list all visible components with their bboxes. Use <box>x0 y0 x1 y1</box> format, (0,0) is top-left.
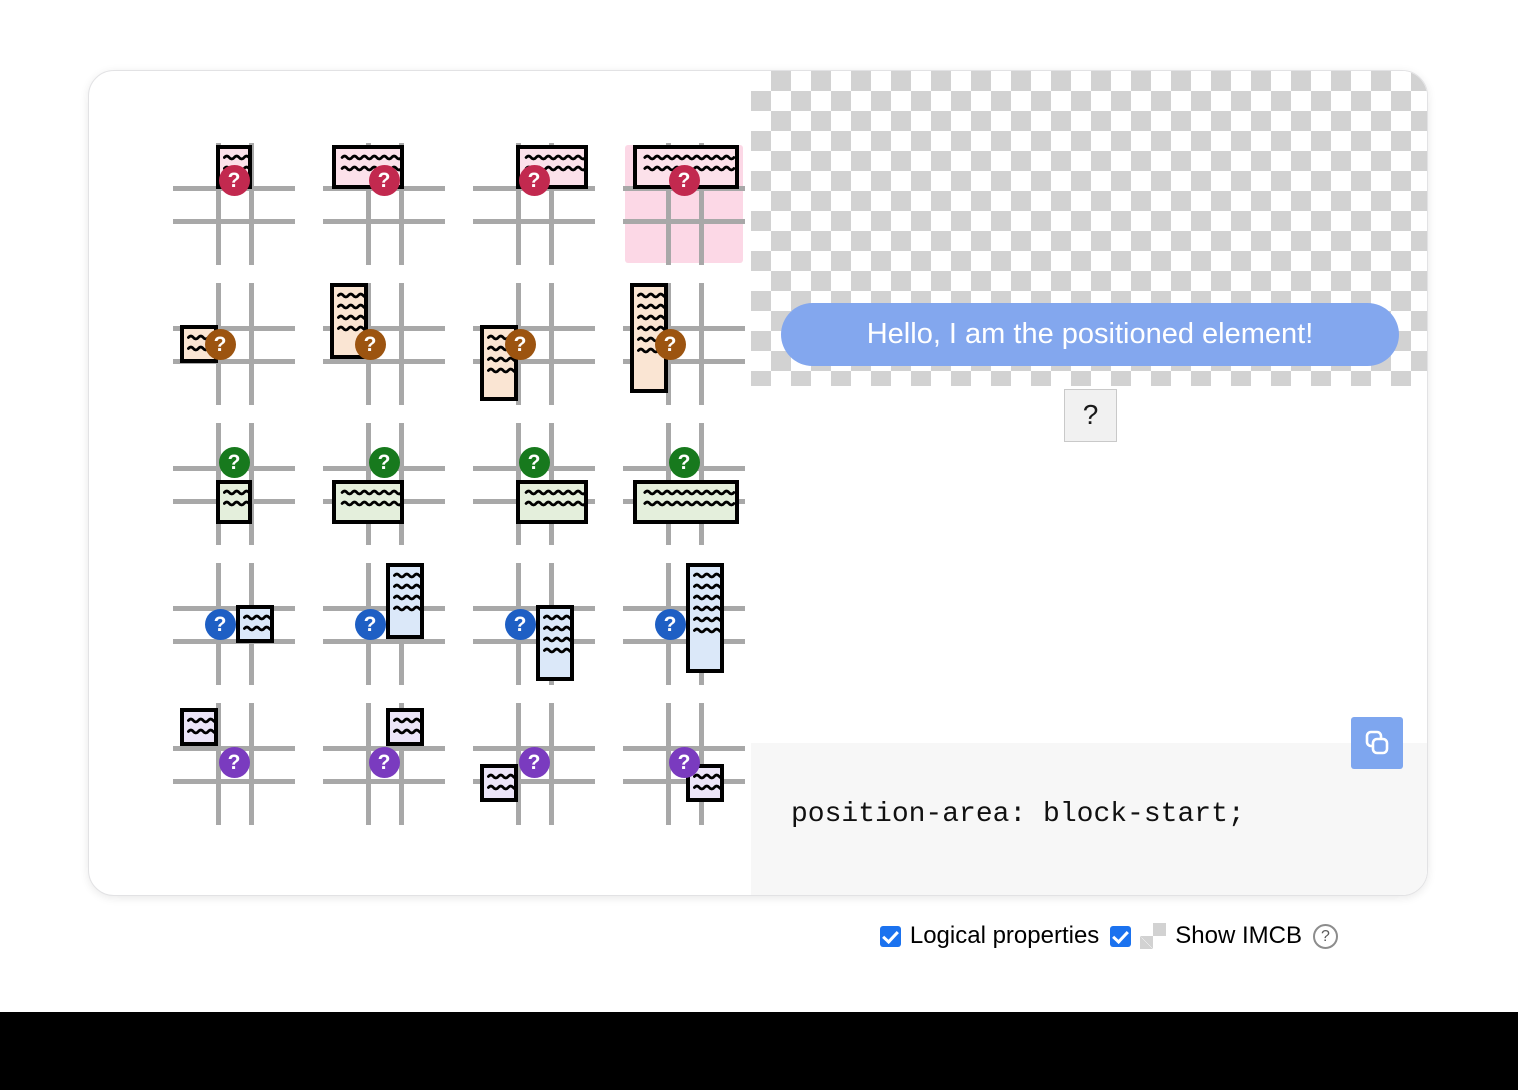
variant-cell[interactable]: ? <box>467 553 599 693</box>
variant-cell[interactable]: ? <box>167 273 299 413</box>
logical-properties-control[interactable]: Logical properties <box>880 922 1099 950</box>
positioned-box <box>633 480 739 524</box>
anchor-marker: ? <box>369 165 400 196</box>
positioned-box <box>216 480 252 524</box>
gridline <box>173 639 295 644</box>
variant-cell[interactable]: ? <box>617 273 749 413</box>
code-block: position-area: block-start; <box>751 743 1427 895</box>
gridline <box>473 606 595 611</box>
variant-cell[interactable]: ? <box>317 553 449 693</box>
position-area-card: ? ? ? ? ? <box>88 70 1428 896</box>
variant-cell[interactable]: ? <box>467 693 599 833</box>
footer-controls: Logical properties Show IMCB ? <box>0 922 1428 950</box>
variant-grid: ? ? ? ? ? <box>167 133 749 833</box>
gridline <box>473 639 595 644</box>
variant-cell[interactable]: ? <box>617 413 749 553</box>
anchor-marker: ? <box>505 329 536 360</box>
positioned-box <box>480 764 518 802</box>
variant-cell[interactable]: ? <box>167 133 299 273</box>
variant-cell[interactable]: ? <box>167 413 299 553</box>
gridline <box>323 779 445 784</box>
gridline <box>623 639 745 644</box>
gridline <box>323 639 445 644</box>
positioned-box <box>332 480 404 524</box>
logical-properties-checkbox[interactable] <box>880 926 901 947</box>
positioned-box <box>236 605 274 643</box>
anchor-marker: ? <box>655 329 686 360</box>
gridline <box>473 219 595 224</box>
gridline <box>249 703 254 825</box>
logical-properties-label: Logical properties <box>910 922 1099 950</box>
variant-cell[interactable]: ? <box>167 693 299 833</box>
anchor-marker: ? <box>355 609 386 640</box>
gridline <box>623 779 745 784</box>
code-snippet: position-area: block-start; <box>791 799 1245 830</box>
positioned-box <box>180 708 218 746</box>
help-icon[interactable]: ? <box>1313 924 1338 949</box>
gridline <box>323 359 445 364</box>
gridline <box>173 219 295 224</box>
variant-cell[interactable]: ? <box>617 133 749 273</box>
positioned-element-bubble: Hello, I am the positioned element! <box>781 303 1399 366</box>
anchor-marker: ? <box>369 747 400 778</box>
positioned-box <box>516 480 588 524</box>
anchor-marker: ? <box>505 609 536 640</box>
anchor-marker: ? <box>205 329 236 360</box>
variant-cell[interactable]: ? <box>467 413 599 553</box>
preview-area-imcb: Hello, I am the positioned element! <box>751 71 1427 386</box>
page-root: ? ? ? ? ? <box>0 0 1518 1090</box>
checkerboard-swatch-icon <box>1140 923 1166 949</box>
anchor-marker: ? <box>519 165 550 196</box>
gridline <box>399 283 404 405</box>
gridline <box>173 606 295 611</box>
gridline <box>699 283 704 405</box>
anchor-marker: ? <box>205 609 236 640</box>
anchor-marker: ? <box>669 747 700 778</box>
variant-cell[interactable]: ? <box>617 553 749 693</box>
anchor-marker: ? <box>219 447 250 478</box>
copy-code-button[interactable] <box>1351 717 1403 769</box>
anchor-button[interactable]: ? <box>1064 389 1117 442</box>
copy-icon <box>1362 728 1392 758</box>
gridline <box>249 283 254 405</box>
show-imcb-checkbox[interactable] <box>1110 926 1131 947</box>
anchor-marker: ? <box>219 747 250 778</box>
gridline <box>623 219 745 224</box>
anchor-marker: ? <box>519 447 550 478</box>
positioned-box <box>686 563 724 673</box>
variant-cell[interactable]: ? <box>317 133 449 273</box>
show-imcb-label: Show IMCB <box>1175 922 1302 950</box>
anchor-marker: ? <box>669 447 700 478</box>
anchor-marker: ? <box>655 609 686 640</box>
variant-cell[interactable]: ? <box>467 133 599 273</box>
anchor-marker: ? <box>669 165 700 196</box>
anchor-marker: ? <box>219 165 250 196</box>
bottom-band <box>0 1012 1518 1090</box>
variant-cell[interactable]: ? <box>317 273 449 413</box>
anchor-marker: ? <box>369 447 400 478</box>
gridline <box>173 779 295 784</box>
variant-cell[interactable]: ? <box>167 553 299 693</box>
gridline <box>323 606 445 611</box>
variant-cell[interactable]: ? <box>617 693 749 833</box>
positioned-box <box>386 563 424 639</box>
variant-cell[interactable]: ? <box>317 413 449 553</box>
gridline <box>549 283 554 405</box>
demo-panel: Hello, I am the positioned element! ? po… <box>751 71 1427 895</box>
variant-picker-panel: ? ? ? ? ? <box>89 71 751 895</box>
positioned-box <box>386 708 424 746</box>
show-imcb-control[interactable]: Show IMCB <box>1110 922 1302 950</box>
variant-cell[interactable]: ? <box>467 273 599 413</box>
variant-cell[interactable]: ? <box>317 693 449 833</box>
anchor-marker: ? <box>519 747 550 778</box>
gridline <box>549 703 554 825</box>
gridline <box>323 219 445 224</box>
gridline <box>623 606 745 611</box>
anchor-marker: ? <box>355 329 386 360</box>
positioned-box <box>536 605 574 681</box>
